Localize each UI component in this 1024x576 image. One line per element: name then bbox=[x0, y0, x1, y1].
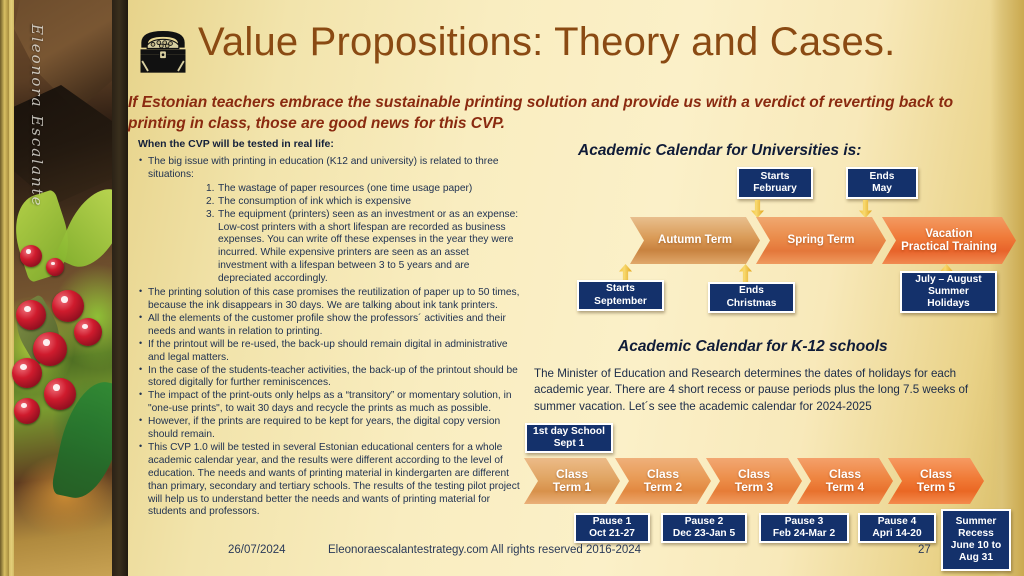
sub-bullet-text: The consumption of ink which is expensiv… bbox=[218, 196, 411, 207]
berry-shape bbox=[52, 290, 84, 322]
chevron-label: Vacation Practical Training bbox=[901, 228, 997, 254]
list-number: 2. bbox=[206, 196, 215, 209]
chevron-label: Spring Term bbox=[788, 234, 855, 247]
label-line: Oct 21-27 bbox=[589, 528, 635, 540]
slide-header: Value Propositions: Theory and Cases. bbox=[128, 0, 1024, 92]
arrow-down-icon bbox=[859, 200, 872, 218]
footer-date: 26/07/2024 bbox=[228, 544, 286, 556]
label-line: Recess bbox=[958, 528, 994, 540]
chevron-label: Class Term 4 bbox=[826, 468, 864, 495]
label-line: Ends bbox=[870, 171, 895, 183]
list-item: In the case of the students-teacher acti… bbox=[138, 365, 520, 391]
label-line: 1st day School bbox=[533, 426, 605, 438]
list-item: 2.The consumption of ink which is expens… bbox=[206, 196, 520, 209]
list-item: 1.The wastage of paper resources (one ti… bbox=[206, 183, 520, 196]
side-panel-left-edge bbox=[0, 0, 9, 576]
chevron-label: Autumn Term bbox=[658, 234, 732, 247]
universities-term-chevrons: Autumn Term Spring Term Vacation Practic… bbox=[630, 217, 1016, 264]
label-pause-3: Pause 3 Feb 24-Mar 2 bbox=[759, 513, 849, 543]
label-first-day-school: 1st day School Sept 1 bbox=[525, 423, 613, 453]
label-line: Pause 4 bbox=[878, 516, 917, 528]
label-starts-february: Starts February bbox=[737, 167, 813, 199]
list-number: 1. bbox=[206, 183, 215, 196]
list-item: All the elements of the customer profile… bbox=[138, 313, 520, 339]
decorative-side-panel: Eleonora Escalante bbox=[0, 0, 128, 576]
label-ends-may: Ends May bbox=[846, 167, 918, 199]
list-item: This CVP 1.0 will be tested in several E… bbox=[138, 442, 520, 519]
label-line: Sept 1 bbox=[554, 438, 585, 450]
label-starts-september: Starts September bbox=[577, 280, 664, 311]
berry-shape bbox=[74, 318, 102, 346]
bullet-text: The impact of the print-outs only helps … bbox=[148, 390, 512, 414]
bullet-text: If the printout will be re-used, the bac… bbox=[148, 339, 508, 363]
label-line: July – August bbox=[915, 274, 981, 286]
chevron-label: Class Term 1 bbox=[553, 468, 591, 495]
list-item: The impact of the print-outs only helps … bbox=[138, 390, 520, 416]
bullet-text: In the case of the students-teacher acti… bbox=[148, 365, 518, 389]
list-item: If the printout will be re-used, the bac… bbox=[138, 339, 520, 365]
k12-term-chevrons: Class Term 1 Class Term 2 Class Term 3 C… bbox=[524, 458, 984, 504]
chevron-class-term-4: Class Term 4 bbox=[797, 458, 893, 504]
chevron-class-term-3: Class Term 3 bbox=[706, 458, 802, 504]
footer-copyright: Eleonoraescalantestrategy.com All rights… bbox=[328, 544, 641, 556]
side-panel-right-edge bbox=[112, 0, 128, 576]
list-item: 3.The equipment (printers) seen as an in… bbox=[206, 209, 520, 286]
bullet-text: However, if the prints are required to b… bbox=[148, 416, 500, 440]
list-number: 3. bbox=[206, 209, 215, 222]
label-line: Summer bbox=[956, 516, 997, 528]
label-line: Dec 23-Jan 5 bbox=[673, 528, 735, 540]
label-line: Feb 24-Mar 2 bbox=[773, 528, 835, 540]
label-line: Summer bbox=[928, 286, 969, 298]
berry-shape bbox=[46, 258, 64, 276]
label-summer-holidays: July – August Summer Holidays bbox=[900, 271, 997, 313]
left-column-heading: When the CVP will be tested in real life… bbox=[138, 138, 520, 150]
arrow-down-icon bbox=[751, 200, 764, 218]
label-line: Ends bbox=[739, 285, 764, 297]
berry-shape bbox=[14, 398, 40, 424]
author-signature: Eleonora Escalante bbox=[28, 24, 46, 204]
sub-bullet-text: The wastage of paper resources (one time… bbox=[218, 183, 472, 194]
bullet-text: This CVP 1.0 will be tested in several E… bbox=[148, 442, 520, 518]
sub-bullet-text: The equipment (printers) seen as an inve… bbox=[218, 209, 518, 285]
chevron-class-term-2: Class Term 2 bbox=[615, 458, 711, 504]
label-line: September bbox=[594, 296, 647, 308]
footer-page-number: 27 bbox=[918, 544, 931, 556]
label-line: Pause 2 bbox=[685, 516, 724, 528]
label-pause-4: Pause 4 Apri 14-20 bbox=[858, 513, 936, 543]
numbered-sublist: 1.The wastage of paper resources (one ti… bbox=[148, 183, 520, 286]
label-line: February bbox=[753, 183, 797, 195]
label-line: Pause 1 bbox=[593, 516, 632, 528]
berry-shape bbox=[33, 332, 67, 366]
chevron-vacation-practical-training: Vacation Practical Training bbox=[882, 217, 1016, 264]
berry-shape bbox=[12, 358, 42, 388]
bullet-text: The printing solution of this case promi… bbox=[148, 287, 519, 311]
label-pause-1: Pause 1 Oct 21-27 bbox=[574, 513, 650, 543]
slide-subtitle: If Estonian teachers embrace the sustain… bbox=[128, 92, 978, 135]
chevron-label: Class Term 2 bbox=[644, 468, 682, 495]
label-line: Christmas bbox=[727, 298, 777, 310]
slide-footer: 26/07/2024 Eleonoraescalantestrategy.com… bbox=[128, 544, 1024, 566]
label-line: Starts bbox=[761, 171, 790, 183]
berry-shape bbox=[16, 300, 46, 330]
chevron-class-term-1: Class Term 1 bbox=[524, 458, 620, 504]
bullet-text: All the elements of the customer profile… bbox=[148, 313, 506, 337]
list-item: However, if the prints are required to b… bbox=[138, 416, 520, 442]
label-line: May bbox=[872, 183, 892, 195]
left-text-column: When the CVP will be tested in real life… bbox=[138, 138, 520, 519]
label-line: Pause 3 bbox=[785, 516, 824, 528]
berry-shape bbox=[44, 378, 76, 410]
k12-paragraph: The Minister of Education and Research d… bbox=[534, 366, 1006, 415]
label-line: Apri 14-20 bbox=[872, 528, 921, 540]
chevron-autumn-term: Autumn Term bbox=[630, 217, 760, 264]
chevron-class-term-5: Class Term 5 bbox=[888, 458, 984, 504]
bullet-text: The big issue with printing in education… bbox=[148, 156, 499, 180]
universities-section-title: Academic Calendar for Universities is: bbox=[578, 142, 861, 160]
chevron-label: Class Term 5 bbox=[917, 468, 955, 495]
chevron-label: Class Term 3 bbox=[735, 468, 773, 495]
list-item: The printing solution of this case promi… bbox=[138, 287, 520, 313]
arrow-up-icon bbox=[739, 264, 752, 282]
bullet-list: The big issue with printing in education… bbox=[138, 156, 520, 519]
label-line: Holidays bbox=[927, 298, 969, 310]
page-title: Value Propositions: Theory and Cases. bbox=[198, 20, 895, 65]
berry-shape bbox=[20, 245, 42, 267]
chevron-spring-term: Spring Term bbox=[756, 217, 886, 264]
list-item: The big issue with printing in education… bbox=[138, 156, 520, 286]
presentation-slide: Eleonora Escalante Value Propositions: T… bbox=[0, 0, 1024, 576]
label-pause-2: Pause 2 Dec 23-Jan 5 bbox=[661, 513, 747, 543]
label-line: Starts bbox=[606, 283, 635, 295]
treasure-chest-icon bbox=[136, 26, 190, 76]
k12-section-title: Academic Calendar for K-12 schools bbox=[618, 338, 888, 356]
label-ends-christmas: Ends Christmas bbox=[708, 282, 795, 313]
